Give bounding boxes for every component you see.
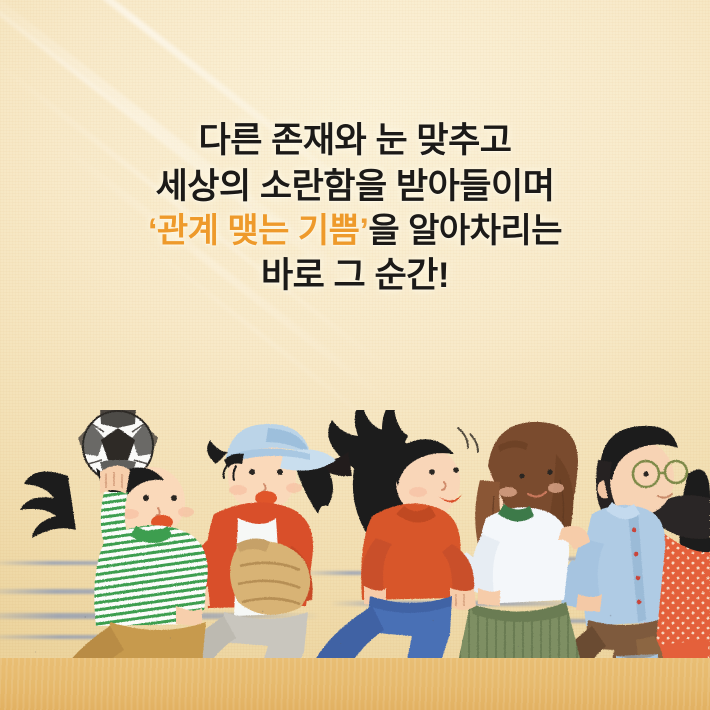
- ground-strip: [0, 658, 710, 710]
- headline-line-4: 바로 그 순간!: [0, 253, 710, 299]
- headline-line-3: ‘관계 맺는 기쁨’을 알아차리는: [0, 209, 710, 253]
- headline-line-1: 다른 존재와 눈 맞추고: [0, 118, 710, 164]
- headline-line-3-rest: 을 알아차리는: [368, 212, 562, 250]
- poster-canvas: 다른 존재와 눈 맞추고 세상의 소란함을 받아들이며 ‘관계 맺는 기쁨’을 …: [0, 0, 710, 710]
- headline-line-2: 세상의 소란함을 받아들이며: [0, 164, 710, 210]
- headline-block: 다른 존재와 눈 맞추고 세상의 소란함을 받아들이며 ‘관계 맺는 기쁨’을 …: [0, 118, 710, 299]
- illustration-scene: [0, 410, 710, 710]
- headline-accent-phrase: ‘관계 맺는 기쁨’: [148, 212, 368, 250]
